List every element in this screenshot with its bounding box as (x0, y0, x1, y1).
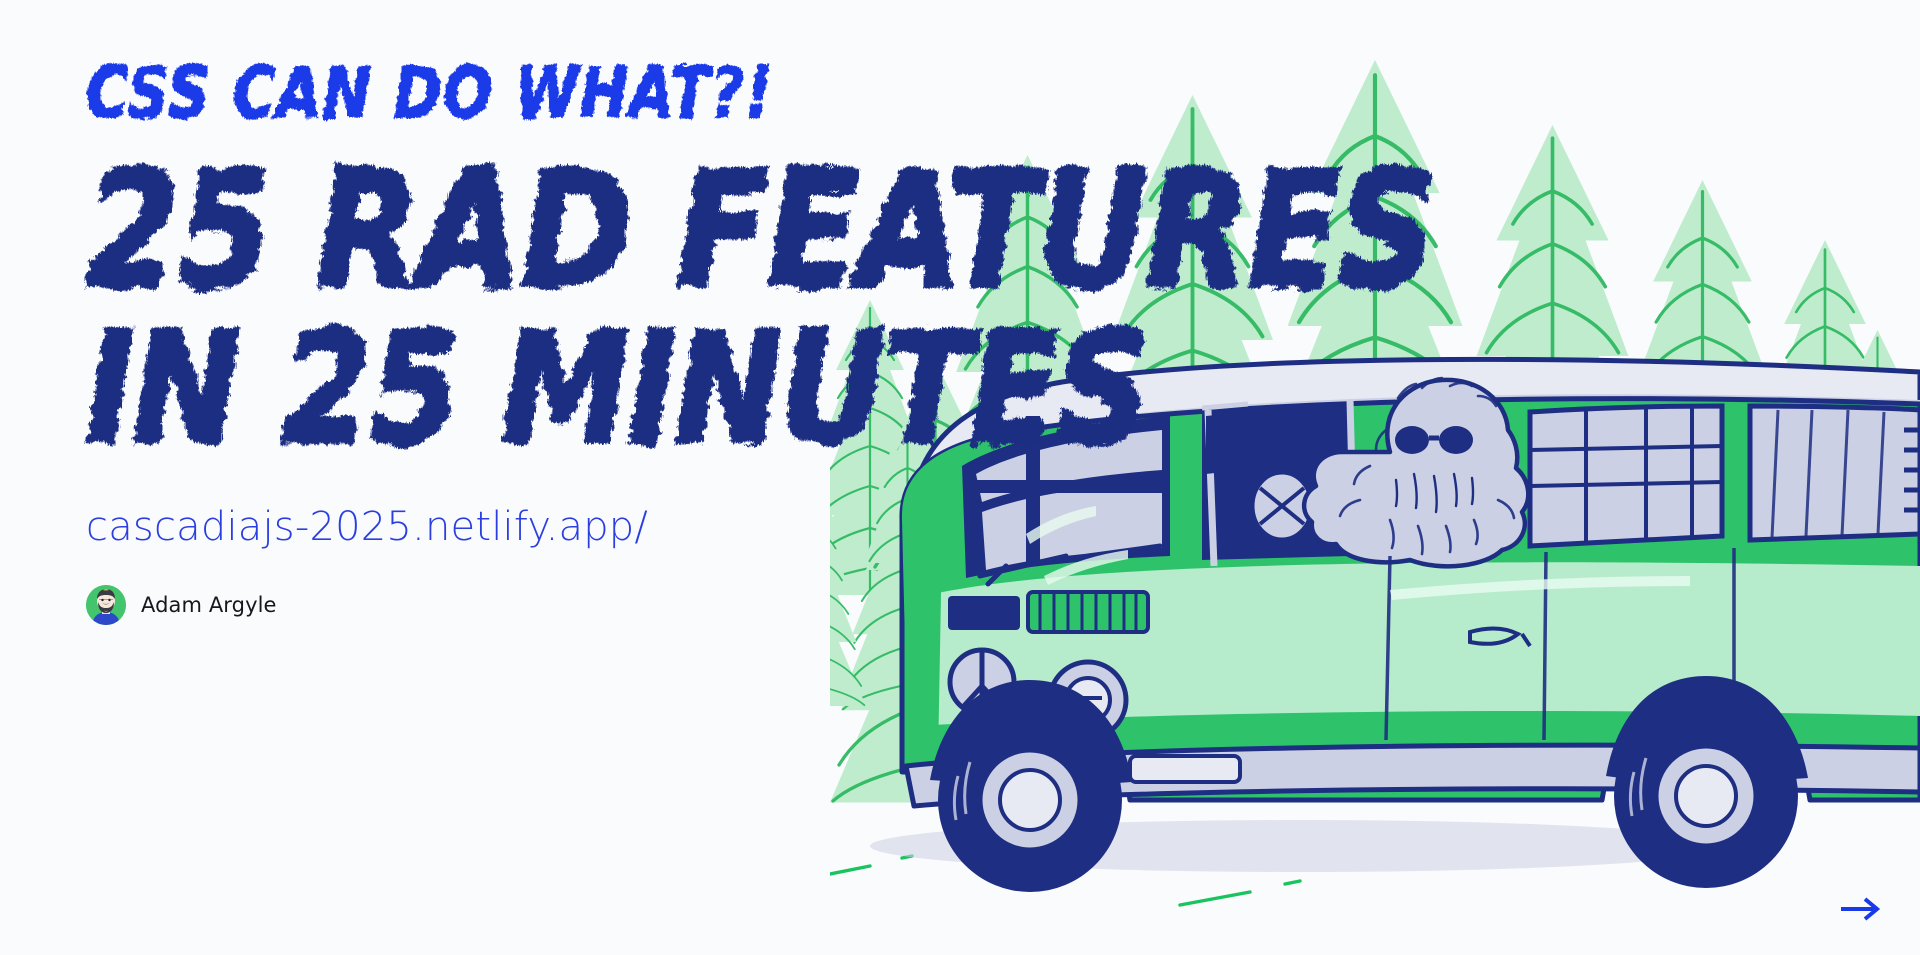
arrow-right-icon (1839, 895, 1883, 923)
slide-title-line-1: 25 RAD FEATURES (86, 154, 1096, 308)
rear-wheel (1614, 704, 1798, 888)
headlight (1050, 662, 1126, 738)
sasquatch-driver (1304, 378, 1528, 566)
slide-eyebrow: CSS CAN DO WHAT?! (86, 58, 1056, 129)
louvre-window (1530, 406, 1722, 546)
author-name: Adam Argyle (141, 593, 277, 617)
side-mirror (1252, 472, 1312, 556)
slide-title-line-2: IN 25 MINUTES (86, 317, 1096, 464)
author-byline: Adam Argyle (86, 585, 1096, 625)
road-dashes (830, 694, 1430, 905)
door-handle (1470, 628, 1530, 646)
peace-badge (950, 650, 1014, 714)
avatar (86, 585, 126, 625)
air-vents (1904, 430, 1920, 510)
avatar-bearded-man-icon (86, 585, 126, 625)
slide-url-link[interactable]: cascadiajs-2025.netlify.app/ (86, 504, 1096, 550)
slide-root: CSS CAN DO WHAT?! 25 RAD FEATURES IN 25 … (0, 0, 1920, 955)
next-slide-button[interactable] (1838, 891, 1884, 927)
slide-text-column: CSS CAN DO WHAT?! 25 RAD FEATURES IN 25 … (86, 58, 1096, 625)
front-wheel (938, 708, 1122, 892)
slide-title: 25 RAD FEATURES IN 25 MINUTES (86, 154, 1096, 440)
rear-window (1750, 406, 1920, 540)
